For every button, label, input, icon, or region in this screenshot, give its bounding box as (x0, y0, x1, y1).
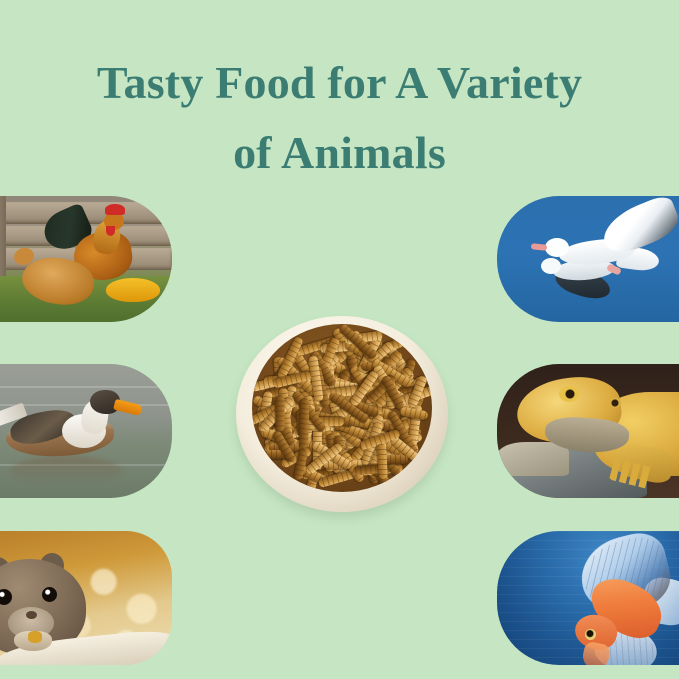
water-ripple (0, 386, 172, 388)
betta-fish-scene (497, 531, 679, 665)
photo-tile-hamster (0, 531, 172, 665)
duck-reflection (10, 456, 122, 486)
fence-post (0, 196, 6, 280)
title-line-2: of Animals (0, 118, 679, 188)
bearded-dragon-scene (497, 364, 679, 498)
dragon-far-eye (609, 398, 621, 408)
pumpkin-half (106, 278, 160, 302)
hamster-eye-right (42, 587, 57, 602)
dragon-eye (559, 386, 579, 402)
title-line-1: Tasty Food for A Variety (97, 57, 582, 108)
food-seed (28, 631, 42, 643)
photo-tile-seagull (497, 196, 679, 322)
photo-tile-rooster (0, 196, 172, 322)
product-poster: Tasty Food for A Variety of Animals (0, 0, 679, 679)
photo-tile-duck (0, 364, 172, 498)
duck-scene (0, 364, 172, 498)
rooster-comb (105, 204, 125, 215)
betta-eye (585, 629, 596, 640)
hamster-scene (0, 531, 172, 665)
daisy-flowers (0, 270, 8, 304)
mealworm (377, 443, 388, 478)
photo-tile-betta-fish (497, 531, 679, 665)
seagull-lower-head (541, 258, 561, 274)
rooster-wattle (106, 226, 115, 236)
seagull-head (545, 238, 569, 257)
seagull-scene (497, 196, 679, 322)
mealworm-bowl (236, 316, 448, 514)
mealworm (299, 398, 309, 449)
page-title: Tasty Food for A Variety of Animals (0, 48, 679, 188)
rooster-scene (0, 196, 172, 322)
hamster-nose (26, 611, 37, 619)
mealworm (276, 396, 285, 432)
photo-tile-bearded-dragon (497, 364, 679, 498)
light-stone (497, 442, 569, 476)
mealworm-pile (252, 324, 432, 492)
